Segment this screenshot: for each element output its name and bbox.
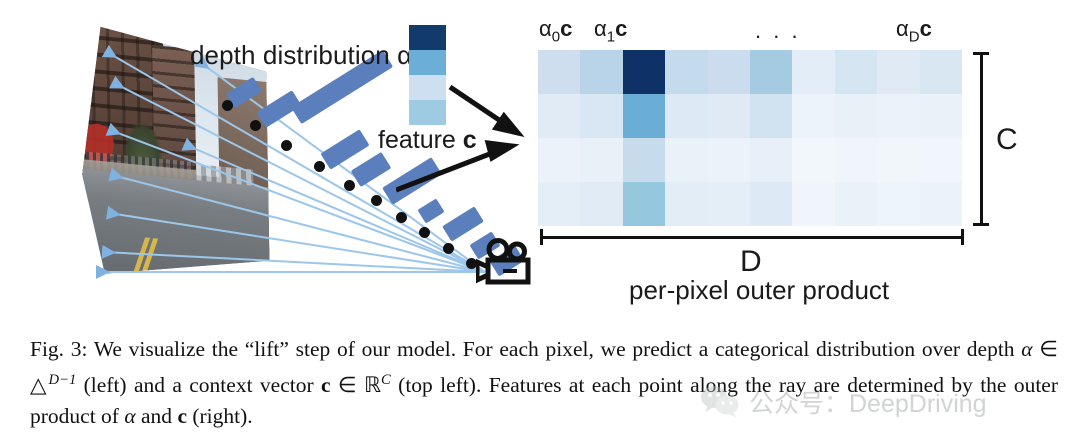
ray-sample-point [419,227,430,238]
feature-segment-0 [409,25,446,50]
heatmap-cell [665,94,707,138]
heatmap-cell [877,182,919,226]
heatmap-cell [835,182,877,226]
caption-simplex-sup: D−1 [49,372,77,388]
heatmap-cell [708,50,750,94]
heatmap-cell [580,182,622,226]
heatmap-cell [580,138,622,182]
heatmap-cell [665,50,707,94]
heatmap-cell [835,50,877,94]
caption-reals: ℝ [364,373,381,397]
heatmap-cell [792,182,834,226]
depth-bar [351,152,392,187]
heatmap-cell [538,182,580,226]
depth-bar [442,206,484,241]
bracket-D [540,229,964,245]
heatmap-cell [750,182,792,226]
column-label-alphaD: αDc [896,16,932,45]
ray-sample-point [314,161,325,172]
caption-line1: We visualize the “lift” step of our mode… [88,337,1022,361]
heatmap-cell [920,50,962,94]
heatmap-cell [708,94,750,138]
heatmap-cell [750,138,792,182]
heatmap-cell [792,94,834,138]
heatmap-cell [538,138,580,182]
ray-sample-point [250,120,261,131]
caption-simplex: △ [30,373,49,397]
ray-sample-point [222,100,233,111]
heatmap-cell [920,138,962,182]
heatmap-cell [623,50,665,94]
caption-alpha2: α [124,404,135,428]
road [78,169,270,298]
heatmap-cell [792,138,834,182]
heatmap-cell [623,94,665,138]
heatmap-cell [623,138,665,182]
column-label-ellipsis: . . . [755,18,801,44]
ray-sample-point [371,195,382,206]
heatmap-cell [708,182,750,226]
heatmap-cell [750,94,792,138]
bracket-D-cap-left [540,229,543,245]
ray-sample-point [443,243,454,254]
ray-sample-point [396,212,407,223]
heatmap-cell [877,94,919,138]
dimension-label-C: C [996,123,1018,157]
ray-sample-point [281,140,292,151]
lane-marking [129,237,159,287]
heatmap-cell [835,94,877,138]
heatmap-cell [580,50,622,94]
caption-and: and [136,404,178,428]
figure-caption: Fig. 3: We visualize the “lift” step of … [30,334,1058,432]
heatmap-cell [538,50,580,94]
outer-product-heatmap [538,50,962,226]
bracket-C [973,52,989,226]
bracket-C-stem [980,52,983,226]
caption-in1: ∈ [1033,337,1058,361]
dimension-label-D: D [740,245,762,279]
column-label-alpha1: α1c [594,16,627,45]
caption-alpha: α [1021,337,1032,361]
heatmap-cell [835,138,877,182]
figure-lift-step: depth distribution α feature c α0c α1c .… [0,0,1080,445]
heatmap-cell [920,94,962,138]
heatmap-cell [665,182,707,226]
bracket-C-cap-bottom [973,223,989,226]
caption-in2: ∈ [331,373,364,397]
caption-cvec: c [321,373,331,397]
bracket-D-cap-right [961,229,964,245]
caption-cvec2: c [177,404,187,428]
heatmap-cell [708,138,750,182]
depth-distribution-label: depth distribution α [190,40,412,71]
bracket-C-cap-top [973,52,989,55]
caption-reals-sup: C [381,372,391,388]
heatmap-cell [580,94,622,138]
heatmap-cell [665,138,707,182]
heatmap-cell [538,94,580,138]
heatmap-cell [623,182,665,226]
heatmap-cell [792,50,834,94]
column-label-alpha0: α0c [539,16,572,45]
heatmap-cell [877,138,919,182]
caption-fig-id: Fig. 3: [30,337,88,361]
movie-camera-icon [476,238,544,286]
heatmap-cell [920,182,962,226]
heatmap-cell [877,50,919,94]
per-pixel-outer-product-label: per-pixel outer product [629,275,889,306]
outer-product-arrows [396,58,556,203]
bracket-D-stem [540,236,964,239]
heatmap-cell [750,50,792,94]
ray-sample-point [344,180,355,191]
caption-end: (right). [187,404,253,428]
caption-mid: (left) and a context vector [76,373,321,397]
